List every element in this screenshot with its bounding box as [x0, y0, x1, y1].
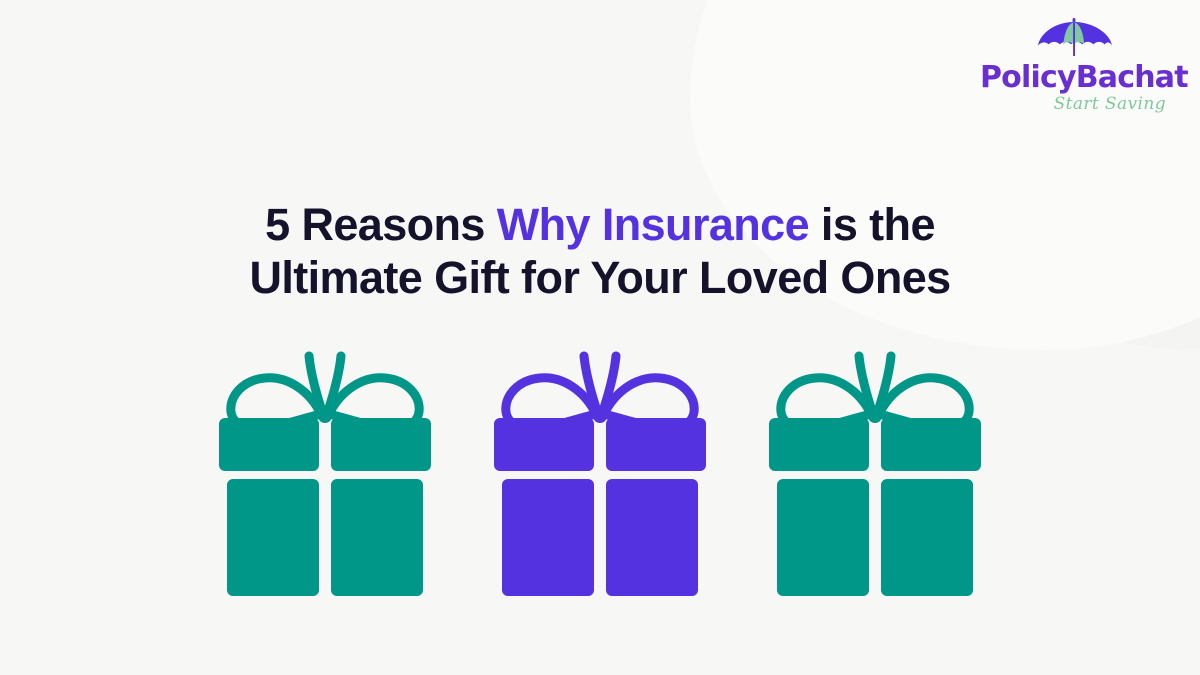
gift-box-left-graphic [219, 356, 431, 596]
gift-box-center [492, 350, 708, 598]
headline-line-2: Ultimate Gift for Your Loved Ones [0, 251, 1200, 304]
headline-accent: Why Insurance [497, 199, 809, 250]
gift-box-row [0, 350, 1200, 600]
policybachat-logo[interactable]: PolicyBachat Start Saving [980, 18, 1170, 113]
logo-wordmark: PolicyBachat [980, 63, 1170, 93]
page-title: 5 Reasons Why Insurance is the Ultimate … [0, 198, 1200, 304]
headline-part-pre: 5 Reasons [265, 199, 497, 250]
headline-line-1: 5 Reasons Why Insurance is the [0, 198, 1200, 251]
gift-box-left [217, 350, 433, 598]
gift-box-center-graphic [494, 356, 706, 596]
gift-box-right [767, 350, 983, 598]
gift-box-right-graphic [769, 356, 981, 596]
headline-part-post: is the [809, 199, 935, 250]
logo-tagline: Start Saving [980, 96, 1170, 113]
banner-canvas: PolicyBachat Start Saving 5 Reasons Why … [0, 0, 1200, 675]
umbrella-icon [1037, 18, 1113, 62]
